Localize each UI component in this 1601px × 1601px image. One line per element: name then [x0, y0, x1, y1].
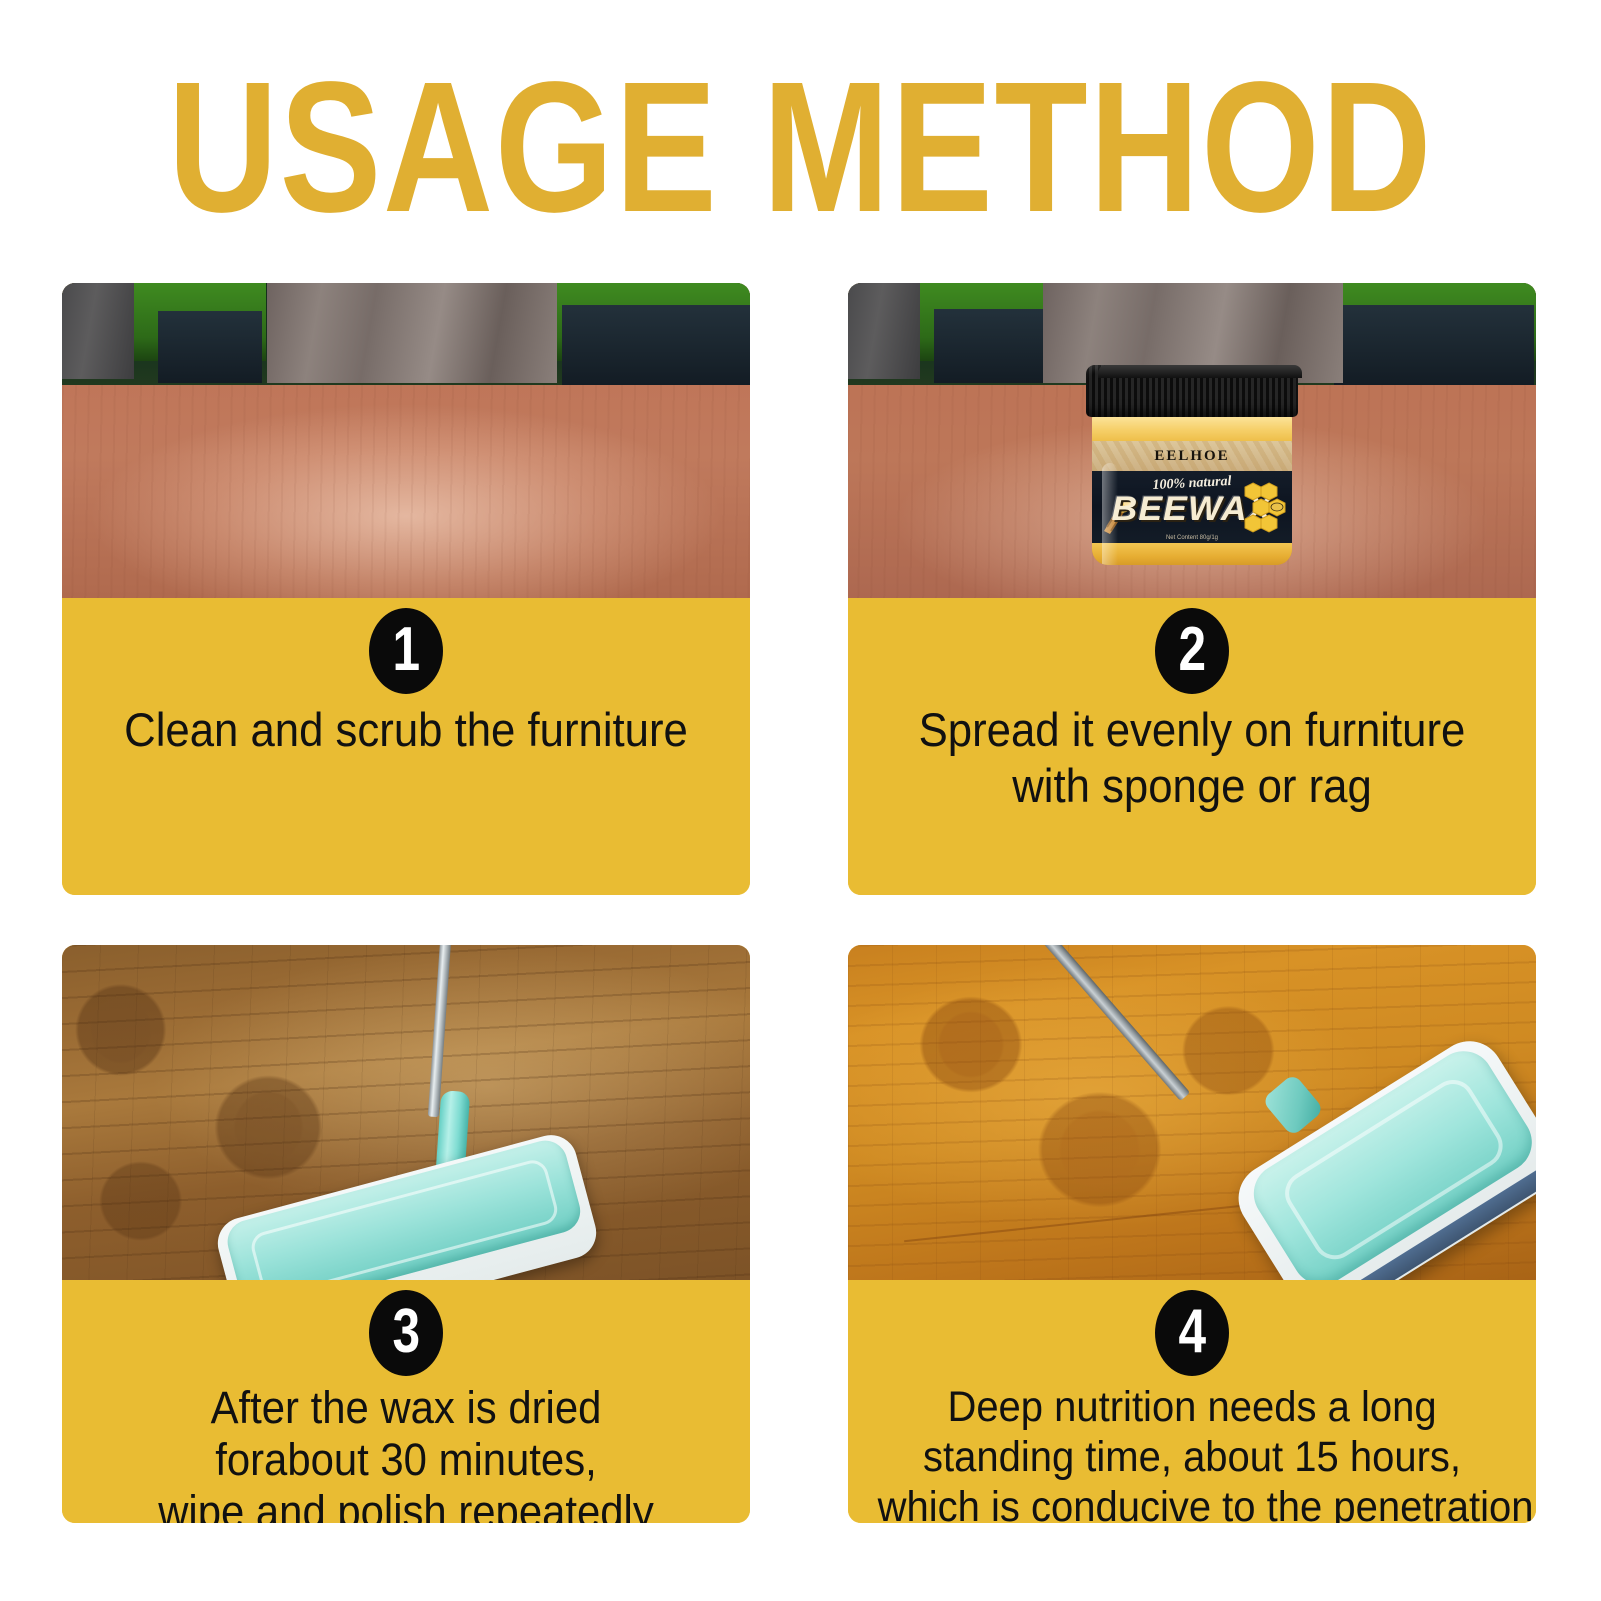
step-card-3: 3 After the wax is dried forabout 30 min… [62, 945, 750, 1523]
step-2-line-1: Spread it evenly on furniture [878, 702, 1507, 758]
step-3-line-2: forabout 30 minutes, [92, 1434, 721, 1486]
planter-right-icon [562, 305, 750, 385]
beeswax-jar-product: EELHOE 100% natural BEEWAX [1078, 365, 1306, 565]
step-2-line-2: with sponge or rag [878, 758, 1507, 814]
step-3-photo [62, 945, 750, 1280]
step-1-text: Clean and scrub the furniture [86, 702, 726, 758]
step-4-caption: 4 Deep nutrition needs a long standing t… [848, 1280, 1536, 1523]
jar-lower-wax [1092, 543, 1292, 565]
step-3-line-1: After the wax is dried [92, 1382, 721, 1434]
step-number-badge-4: 4 [1155, 1290, 1229, 1376]
step-3-text: After the wax is dried forabout 30 minut… [86, 1382, 726, 1523]
furniture-drape-center [267, 283, 557, 383]
jar-main-label: 100% natural BEEWAX Net Conte [1092, 471, 1292, 543]
honeycomb-icon [1241, 479, 1289, 535]
step-1-caption: 1 Clean and scrub the furniture [62, 598, 750, 895]
step-4-line-2: standing time, about 15 hours, [878, 1432, 1507, 1482]
step-2-photo: EELHOE 100% natural BEEWAX [848, 283, 1536, 598]
step-number-3: 3 [392, 1301, 420, 1366]
step-card-1: 1 Clean and scrub the furniture [62, 283, 750, 895]
step-4-line-1: Deep nutrition needs a long [878, 1382, 1507, 1432]
page-title: USAGE METHOD [144, 58, 1457, 238]
planter-right-icon [1334, 305, 1534, 385]
jar-brand-band: EELHOE [1092, 441, 1292, 471]
jar-wax-fill [1092, 413, 1292, 443]
jar-lid-top [1098, 365, 1302, 378]
step-4-photo [848, 945, 1536, 1280]
step-3-line-3: wipe and polish repeatedly [92, 1486, 721, 1523]
step-2-text: Spread it evenly on furniture with spong… [872, 702, 1512, 814]
planter-left-icon [934, 309, 1052, 383]
step-1-line-1: Clean and scrub the furniture [92, 702, 721, 758]
step-1-photo [62, 283, 750, 598]
step-4-text: Deep nutrition needs a long standing tim… [872, 1382, 1512, 1523]
jar-lid [1086, 365, 1298, 417]
planter-left-icon [158, 311, 262, 383]
jar-brand-text: EELHOE [1154, 448, 1229, 465]
step-number-badge-2: 2 [1155, 608, 1229, 694]
step-4-line-3: which is conducive to the penetration of [878, 1482, 1507, 1523]
jar-highlight [1102, 463, 1118, 565]
step-number-2: 2 [1178, 619, 1206, 684]
step-3-caption: 3 After the wax is dried forabout 30 min… [62, 1280, 750, 1523]
step-2-caption: 2 Spread it evenly on furniture with spo… [848, 598, 1536, 895]
step-number-4: 4 [1178, 1301, 1206, 1366]
step-card-2: EELHOE 100% natural BEEWAX [848, 283, 1536, 895]
wood-grain-texture [62, 381, 750, 598]
furniture-drape-left [848, 283, 920, 379]
step-card-4: 4 Deep nutrition needs a long standing t… [848, 945, 1536, 1523]
furniture-drape-left [62, 283, 134, 379]
step-number-badge-3: 3 [369, 1290, 443, 1376]
step-number-1: 1 [392, 619, 420, 684]
jar-net-content-text: Net Content 80g/1g [1166, 535, 1218, 541]
jar-body: EELHOE 100% natural BEEWAX [1092, 413, 1292, 565]
step-number-badge-1: 1 [369, 608, 443, 694]
